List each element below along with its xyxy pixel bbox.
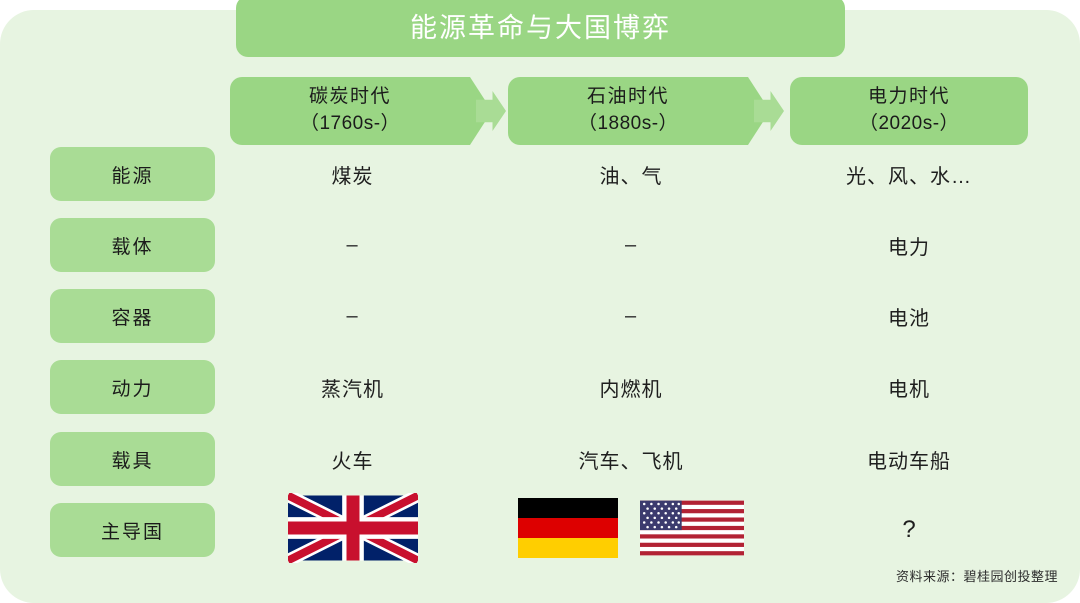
uk-flag-icon — [288, 493, 418, 568]
cell-energy-renewables: 光、风、水… — [790, 147, 1028, 201]
era-header-1[interactable]: 石油时代 （1880s-） — [508, 77, 748, 145]
era-header-2-period: （2020s-） — [859, 111, 959, 138]
era-header-0-period: （1760s-） — [300, 111, 400, 138]
row-label-power[interactable]: 动力 — [50, 360, 215, 414]
title-banner: 能源革命与大国博弈 — [236, 0, 845, 57]
cell-carrier-col2: 电力 — [790, 218, 1028, 272]
cell-container-col1: – — [512, 289, 750, 343]
row-label-leading-nation[interactable]: 主导国 — [50, 503, 215, 557]
row-label-vehicle-text: 载具 — [111, 446, 153, 473]
cell-vehicle-col2: 电动车船 — [790, 432, 1028, 486]
era-header-0-era: 碳炭时代 — [309, 84, 391, 111]
era-header-0[interactable]: 碳炭时代 （1760s-） — [230, 77, 470, 145]
usa-flag-icon — [640, 497, 744, 564]
cell-leading-nation-col0 — [230, 494, 475, 566]
cell-container-col0: – — [230, 289, 475, 343]
row-label-container-text: 容器 — [111, 303, 153, 330]
cell-power-col0: 蒸汽机 — [230, 360, 475, 414]
era-header-1-era: 石油时代 — [587, 84, 669, 111]
row-label-vehicle[interactable]: 载具 — [50, 432, 215, 486]
cell-vehicle-col1: 汽车、飞机 — [512, 432, 750, 486]
cell-container-col2: 电池 — [790, 289, 1028, 343]
question-mark-text: ? — [902, 516, 915, 544]
cell-carrier-col1: – — [512, 218, 750, 272]
cell-carrier-col0: – — [230, 218, 475, 272]
row-label-container[interactable]: 容器 — [50, 289, 215, 343]
cell-vehicle-col0: 火车 — [230, 432, 475, 486]
cell-leading-nation-col2: ? — [790, 494, 1028, 566]
era-header-1-period: （1880s-） — [578, 111, 678, 138]
cell-power-col2: 电机 — [790, 360, 1028, 414]
era-header-2[interactable]: 电力时代 （2020s-） — [790, 77, 1028, 145]
page-title: 能源革命与大国博弈 — [410, 11, 671, 42]
row-label-leading-nation-text: 主导国 — [101, 517, 164, 544]
row-label-energy[interactable]: 能源 — [50, 147, 215, 201]
row-label-power-text: 动力 — [111, 374, 153, 401]
cell-power-col1: 内燃机 — [512, 360, 750, 414]
era-header-2-era: 电力时代 — [868, 84, 950, 111]
cell-energy-oil-gas: 油、气 — [512, 147, 750, 201]
cell-energy-coal: 煤炭 — [230, 147, 475, 201]
germany-flag-icon — [518, 497, 618, 564]
source-note: 资料来源：碧桂园创投整理 — [896, 566, 1058, 585]
row-label-energy-text: 能源 — [111, 161, 153, 188]
row-label-carrier[interactable]: 载体 — [50, 218, 215, 272]
row-label-carrier-text: 载体 — [111, 232, 153, 259]
cell-leading-nation-col1 — [512, 494, 750, 566]
era-header-row: 碳炭时代 （1760s-） 石油时代 （1880s-） 电力时代 （2020s-… — [230, 77, 1030, 145]
infographic-root: 能源革命与大国博弈 碳炭时代 （1760s-） 石油时代 （1880s-） 电力… — [0, 0, 1080, 603]
